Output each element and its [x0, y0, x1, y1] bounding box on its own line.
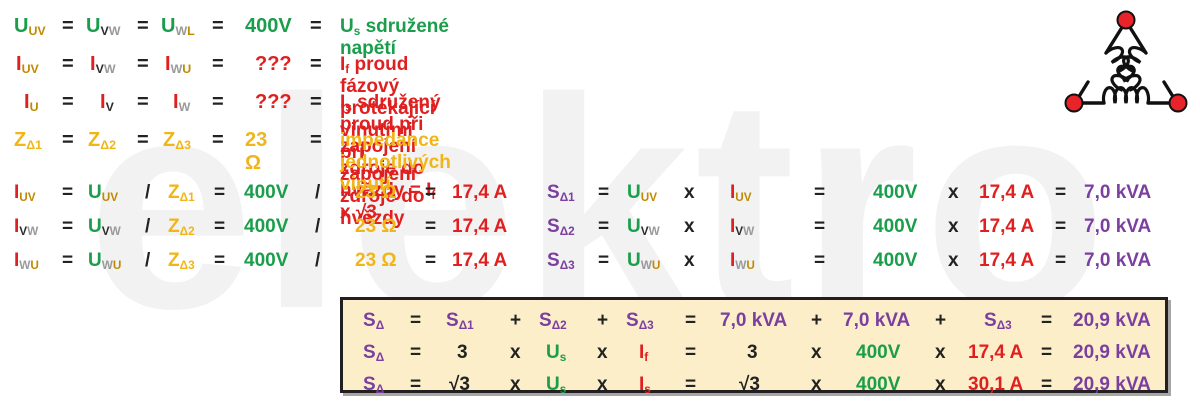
- sum-equals-3: =: [1041, 342, 1052, 364]
- power-equals-1: =: [598, 216, 609, 238]
- legend-equals-4: =: [310, 15, 322, 38]
- power-equals-2: =: [814, 216, 825, 238]
- total-power-symbol: SΔ: [363, 342, 384, 364]
- sum-term-3: If: [639, 342, 648, 364]
- legend-equals-1: =: [62, 53, 74, 76]
- legend-equals-3: =: [212, 129, 224, 152]
- calc-current-symbol: IVW: [14, 216, 38, 238]
- power-voltage-symbol: UWU: [627, 250, 660, 272]
- sum-term-1: √3: [449, 374, 470, 396]
- calc-current-symbol: IWU: [14, 250, 39, 272]
- sum-equals-1: =: [410, 374, 421, 396]
- calc-voltage-symbol: UUV: [88, 182, 118, 204]
- calc-equals-1: =: [62, 182, 73, 204]
- legend-symbol-3: UWL: [161, 15, 195, 38]
- sum-equals-1: =: [410, 342, 421, 364]
- sum-term-1: SΔ1: [446, 310, 474, 332]
- calc-voltage-value: 400V: [244, 250, 288, 272]
- legend-symbol-1: ZΔ1: [14, 129, 42, 152]
- power-current-symbol: IVW: [730, 216, 754, 238]
- power-voltage-value: 400V: [873, 250, 917, 272]
- legend-symbol-2: IVW: [90, 53, 116, 76]
- legend-equals-4: =: [310, 129, 322, 152]
- power-current-value: 17,4 A: [979, 216, 1034, 238]
- calc-impedance-value: 23 Ω: [355, 250, 397, 272]
- power-equals-1: =: [598, 250, 609, 272]
- terminal-dot-top: [1118, 12, 1135, 29]
- legend-value: ???: [255, 91, 292, 114]
- sum-value-3: SΔ3: [984, 310, 1012, 332]
- calc-divide-1: /: [145, 182, 150, 204]
- sum-term-1: 3: [457, 342, 468, 364]
- legend-symbol-3: ZΔ3: [163, 129, 191, 152]
- sum-total-result: 20,9 kVA: [1073, 310, 1151, 332]
- power-result: 7,0 kVA: [1084, 250, 1151, 272]
- power-result: 7,0 kVA: [1084, 182, 1151, 204]
- calc-equals-3: =: [425, 216, 436, 238]
- legend-symbol-1: UUV: [14, 15, 46, 38]
- calc-voltage-symbol: UWU: [88, 250, 121, 272]
- legend-equals-3: =: [212, 91, 224, 114]
- calc-voltage-value: 400V: [244, 182, 288, 204]
- calc-equals-1: =: [62, 250, 73, 272]
- legend-equals-2: =: [137, 129, 149, 152]
- calc-divide-2: /: [315, 216, 320, 238]
- sum-value-2: 400V: [856, 342, 900, 364]
- sum-plus-2: +: [597, 310, 608, 332]
- sum-value-3: 17,4 A: [968, 342, 1023, 364]
- sum-term-3: SΔ3: [626, 310, 654, 332]
- legend-symbol-1: IU: [24, 91, 39, 114]
- sum-plus-1: +: [510, 310, 521, 332]
- calc-divide-1: /: [145, 250, 150, 272]
- power-voltage-value: 400V: [873, 182, 917, 204]
- calc-equals-3: =: [425, 182, 436, 204]
- sum-term-2: Us: [546, 374, 566, 396]
- sum-equals-2: =: [685, 310, 696, 332]
- calc-current-symbol: IUV: [14, 182, 36, 204]
- calc-divide-1: /: [145, 216, 150, 238]
- terminal-dot-bottom-left: [1066, 95, 1083, 112]
- calc-divide-2: /: [315, 182, 320, 204]
- sum-times-1: x: [510, 374, 521, 396]
- winding-coil-right: [1109, 44, 1146, 90]
- calc-voltage-value: 400V: [244, 216, 288, 238]
- legend-equals-4: =: [310, 53, 322, 76]
- calc-voltage-symbol: UVW: [88, 216, 121, 238]
- legend-symbol-2: IV: [100, 91, 114, 114]
- legend-symbol-2: UVW: [86, 15, 120, 38]
- power-times-2: x: [948, 182, 959, 204]
- sum-equals-2: =: [685, 342, 696, 364]
- legend-equals-1: =: [62, 15, 74, 38]
- legend-symbol-1: IUV: [16, 53, 39, 76]
- power-symbol: SΔ2: [547, 216, 575, 238]
- legend-equals-1: =: [62, 91, 74, 114]
- power-symbol: SΔ3: [547, 250, 575, 272]
- calc-result-current: 17,4 A: [452, 250, 507, 272]
- sum-value-times-1: x: [811, 374, 822, 396]
- sum-times-2: x: [597, 374, 608, 396]
- sum-times-2: x: [597, 342, 608, 364]
- power-equals-3: =: [1055, 250, 1066, 272]
- sum-term-2: Us: [546, 342, 566, 364]
- sum-value-times-2: x: [935, 342, 946, 364]
- legend-equals-2: =: [137, 53, 149, 76]
- sum-times-1: x: [510, 342, 521, 364]
- calc-equals-2: =: [214, 250, 225, 272]
- power-symbol: SΔ1: [547, 182, 575, 204]
- sum-term-3: Is: [639, 374, 651, 396]
- sum-term-2: SΔ2: [539, 310, 567, 332]
- legend-equals-4: =: [310, 91, 322, 114]
- sum-value-1: 3: [747, 342, 758, 364]
- legend-equals-2: =: [137, 91, 149, 114]
- calc-equals-3: =: [425, 250, 436, 272]
- total-power-symbol: SΔ: [363, 310, 384, 332]
- winding-coil-bottom: [1104, 88, 1149, 103]
- legend-value: 400V: [245, 15, 292, 38]
- power-result: 7,0 kVA: [1084, 216, 1151, 238]
- calc-impedance-symbol: ZΔ2: [168, 216, 195, 238]
- power-voltage-symbol: UUV: [627, 182, 657, 204]
- power-equals-2: =: [814, 250, 825, 272]
- sum-value-plus-2: +: [935, 310, 946, 332]
- calc-impedance-value: 23 Ω: [355, 182, 397, 204]
- sum-value-2: 400V: [856, 374, 900, 396]
- calc-equals-2: =: [214, 182, 225, 204]
- power-voltage-value: 400V: [873, 216, 917, 238]
- legend-value: ???: [255, 53, 292, 76]
- sum-value-3: 30,1 A: [968, 374, 1023, 396]
- legend-value: 23 Ω: [245, 129, 267, 175]
- legend-equals-3: =: [212, 15, 224, 38]
- sum-equals-3: =: [1041, 310, 1052, 332]
- sum-total-result: 20,9 kVA: [1073, 374, 1151, 396]
- sum-value-times-1: x: [811, 342, 822, 364]
- calc-impedance-symbol: ZΔ3: [168, 250, 195, 272]
- sum-value-1: 7,0 kVA: [720, 310, 787, 332]
- power-times-1: x: [684, 250, 695, 272]
- power-equals-3: =: [1055, 216, 1066, 238]
- legend-equals-3: =: [212, 53, 224, 76]
- power-equals-1: =: [598, 182, 609, 204]
- sum-value-plus-1: +: [811, 310, 822, 332]
- calc-equals-2: =: [214, 216, 225, 238]
- calc-equals-1: =: [62, 216, 73, 238]
- terminal-dot-bottom-right: [1170, 95, 1187, 112]
- calc-result-current: 17,4 A: [452, 216, 507, 238]
- legend-symbol-3: IWU: [165, 53, 191, 76]
- legend-equals-2: =: [137, 15, 149, 38]
- power-current-value: 17,4 A: [979, 250, 1034, 272]
- power-voltage-symbol: UVW: [627, 216, 660, 238]
- sum-value-times-2: x: [935, 374, 946, 396]
- power-times-1: x: [684, 182, 695, 204]
- power-current-symbol: IWU: [730, 250, 755, 272]
- total-power-summary-box: SΔ = SΔ1 + SΔ2 + SΔ3 = 7,0 kVA + 7,0 kVA…: [340, 297, 1168, 393]
- power-equals-3: =: [1055, 182, 1066, 204]
- sum-equals-1: =: [410, 310, 421, 332]
- sum-equals-3: =: [1041, 374, 1052, 396]
- power-current-value: 17,4 A: [979, 182, 1034, 204]
- legend-equals-1: =: [62, 129, 74, 152]
- sum-equals-2: =: [685, 374, 696, 396]
- calc-divide-2: /: [315, 250, 320, 272]
- calc-impedance-value: 23 Ω: [355, 216, 397, 238]
- power-times-2: x: [948, 250, 959, 272]
- delta-winding-diagram: [1058, 6, 1194, 142]
- power-equals-2: =: [814, 182, 825, 204]
- legend-symbol-2: ZΔ2: [88, 129, 116, 152]
- calc-result-current: 17,4 A: [452, 182, 507, 204]
- legend-symbol-3: IW: [173, 91, 190, 114]
- calc-impedance-symbol: ZΔ1: [168, 182, 195, 204]
- total-power-symbol: SΔ: [363, 374, 384, 396]
- power-current-symbol: IUV: [730, 182, 752, 204]
- sum-value-2: 7,0 kVA: [843, 310, 910, 332]
- power-times-2: x: [948, 216, 959, 238]
- power-times-1: x: [684, 216, 695, 238]
- sum-value-1: √3: [739, 374, 760, 396]
- sum-total-result: 20,9 kVA: [1073, 342, 1151, 364]
